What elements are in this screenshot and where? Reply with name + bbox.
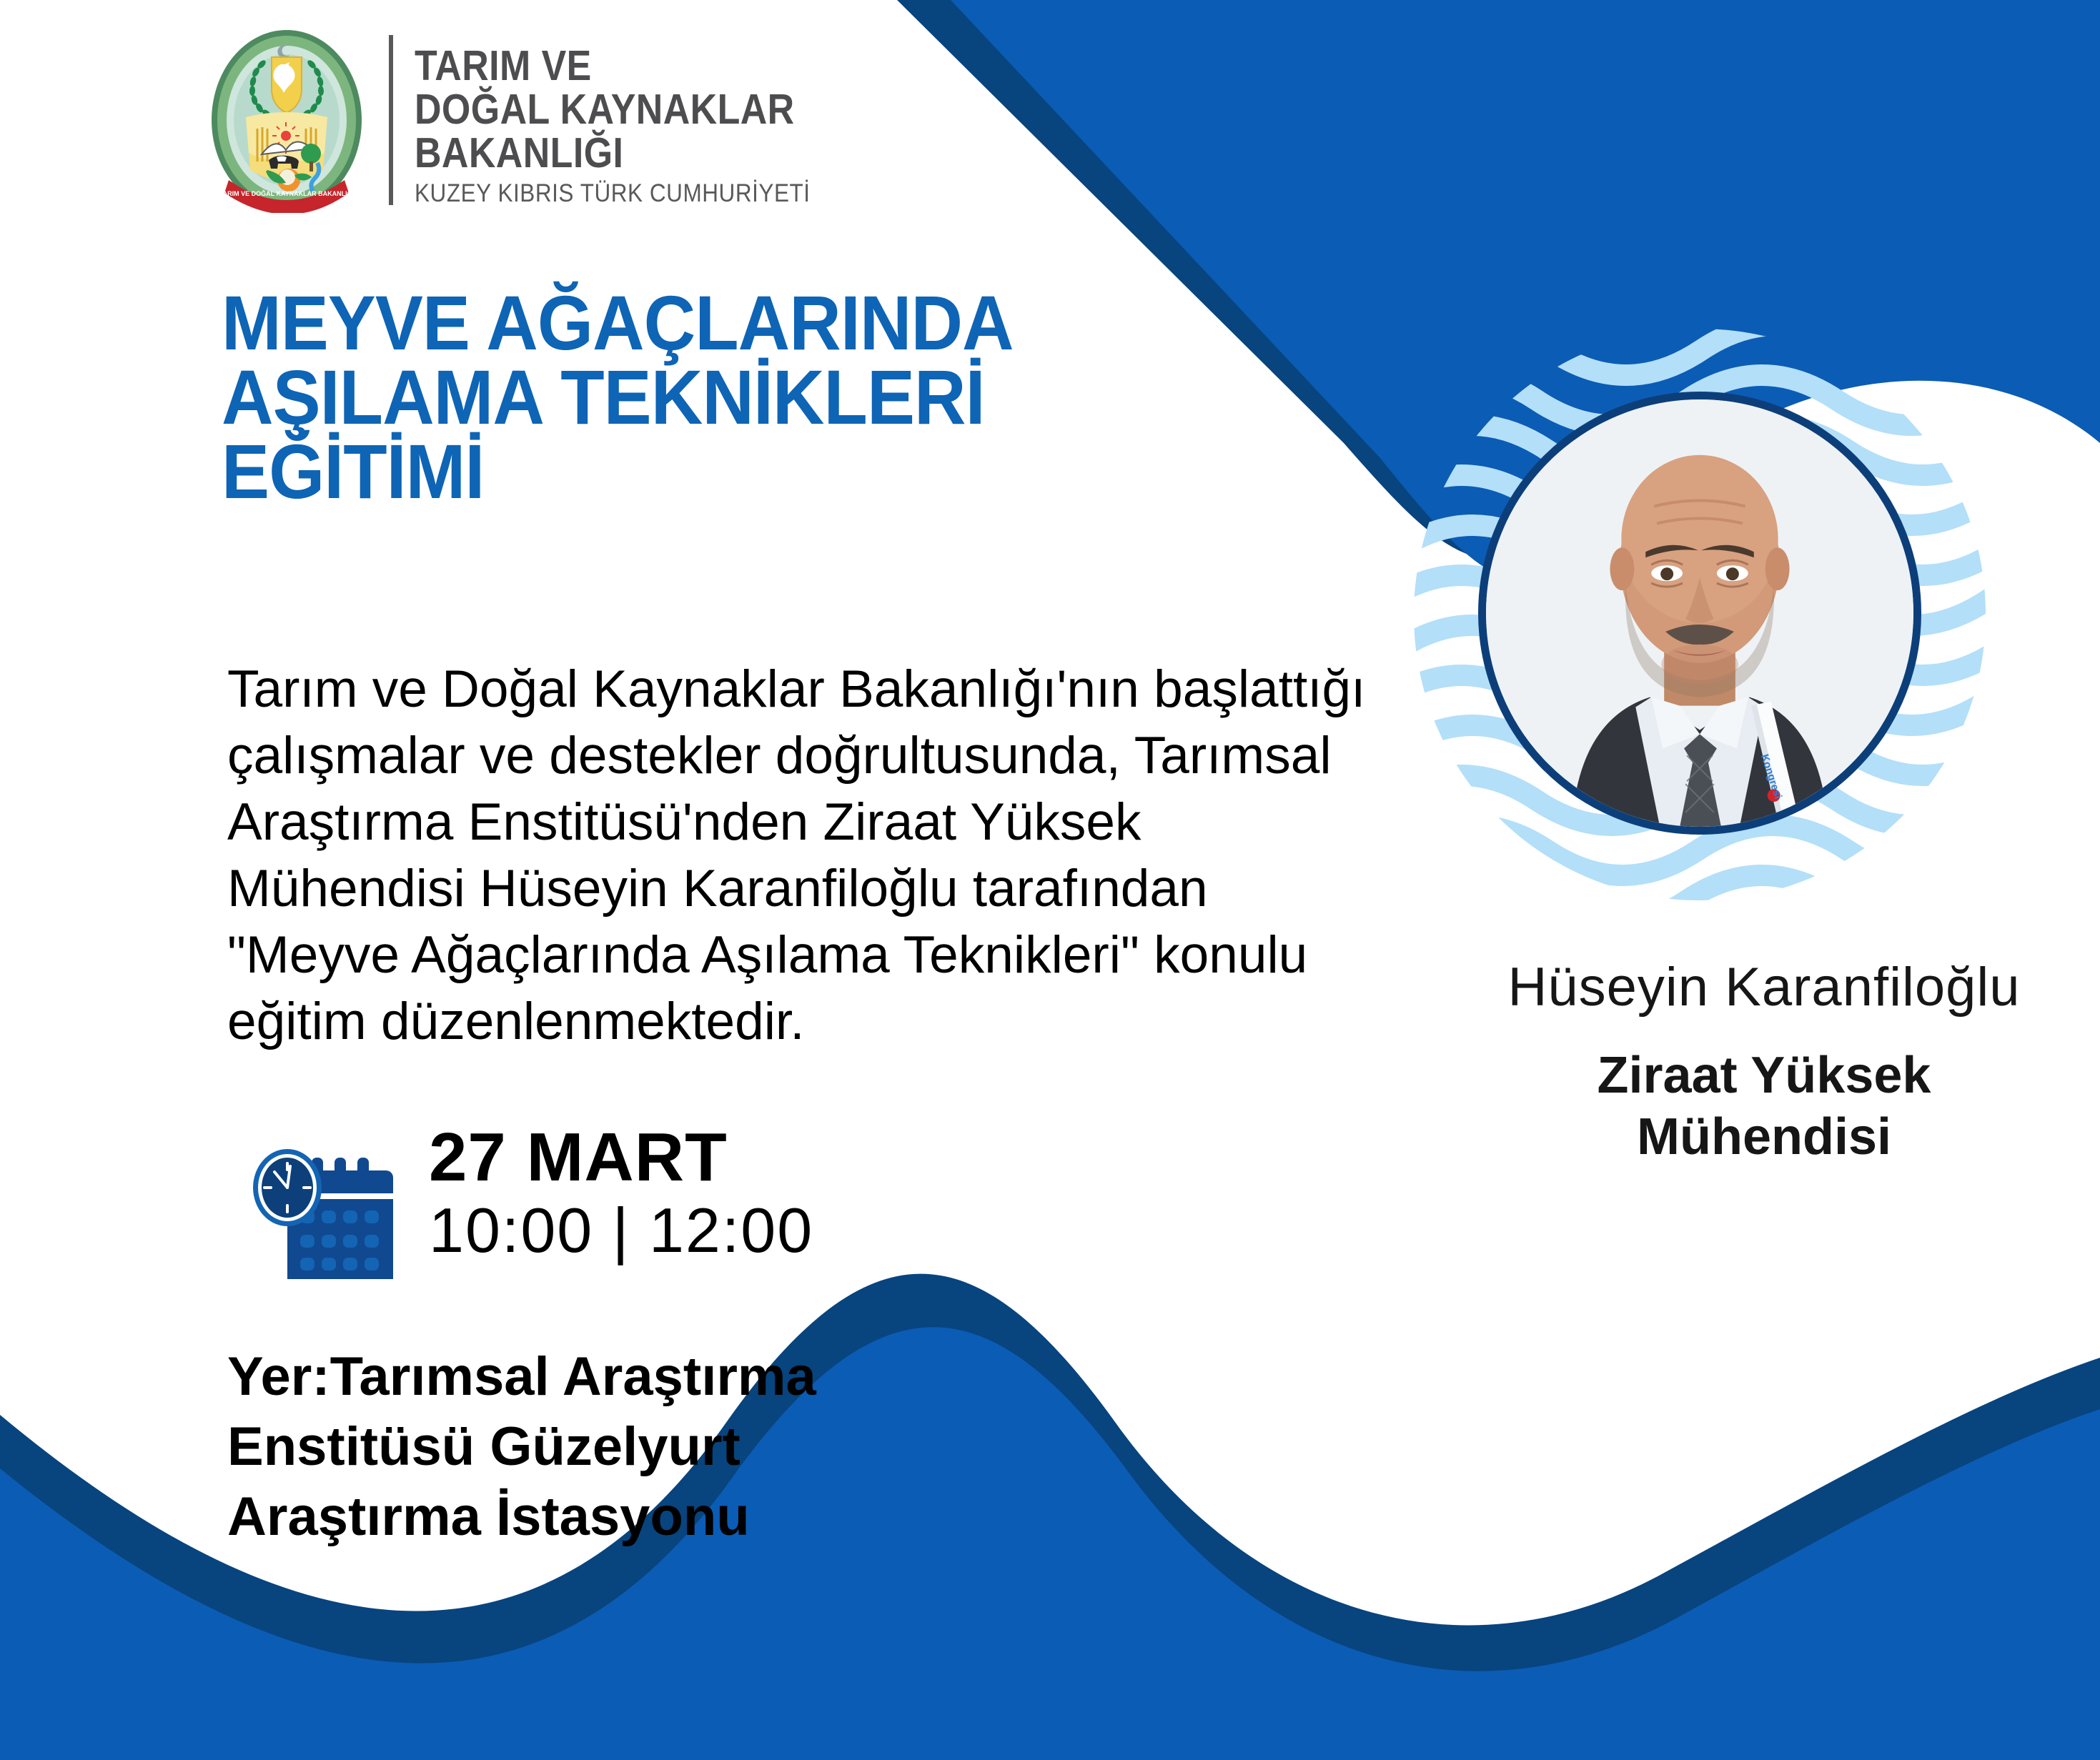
ministry-line-4: KUZEY KIBRIS TÜRK CUMHURİYETİ — [415, 175, 811, 209]
event-time: 10:00 | 12:00 — [429, 1193, 813, 1268]
headline-line-3: EĞİTİMİ — [222, 434, 1006, 509]
speaker-role-line-1: Ziraat Yüksek — [1442, 1045, 2086, 1106]
description-line: Tarım ve Doğal Kaynaklar Bakanlığı'nın b… — [227, 656, 1442, 722]
photo-ring: Ziraat Ban Kongresi — [1478, 392, 1921, 835]
speaker-role-line-2: Mühendisi — [1442, 1106, 2086, 1168]
ministry-crest-icon: TARIM VE DOĞAL KAYNAKLAR BAKANLIĞI — [209, 27, 365, 213]
venue-block: Yer:Tarımsal Araştırma Enstitüsü Güzelyu… — [227, 1342, 816, 1552]
description-line: Mühendisi Hüseyin Karanfiloğlu tarafında… — [227, 855, 1442, 922]
ministry-line-2: DOĞAL KAYNAKLAR — [415, 88, 801, 131]
ministry-line-3: BAKANLIĞI — [415, 131, 801, 175]
headline-line-1: MEYVE AĞAÇLARINDA — [222, 286, 1006, 360]
ministry-logo-block: TARIM VE DOĞAL KAYNAKLAR BAKANLIĞI TARIM… — [209, 27, 854, 213]
description-line: eğitim düzenlenmektedir. — [227, 988, 1442, 1055]
calendar-clock-icon — [243, 1136, 406, 1290]
crest-ribbon-caption: TARIM VE DOĞAL KAYNAKLAR BAKANLIĞI — [219, 189, 354, 197]
description-line: Araştırma Enstitüsü'nden Ziraat Yüksek — [227, 789, 1442, 855]
venue-line: Yer:Tarımsal Araştırma — [227, 1342, 816, 1412]
speaker-portrait-illustration: Ziraat Ban Kongresi — [1486, 399, 1913, 827]
event-date: 27 MART — [429, 1122, 813, 1193]
description-line: "Meyve Ağaçlarında Aşılama Teknikleri" k… — [227, 922, 1442, 988]
description-paragraph: Tarım ve Doğal Kaynaklar Bakanlığı'nın b… — [227, 656, 1442, 1055]
page-title: MEYVE AĞAÇLARINDA AŞILAMA TEKNİKLERİ EĞİ… — [222, 286, 1065, 509]
headline-line-2: AŞILAMA TEKNİKLERİ — [222, 360, 1006, 434]
description-line: çalışmalar ve destekler doğrultusunda, T… — [227, 722, 1442, 789]
speaker-name: Hüseyin Karanfiloğlu — [1442, 958, 2086, 1018]
venue-line: Enstitüsü Güzelyurt — [227, 1412, 816, 1482]
schedule-block: 27 MART 10:00 | 12:00 — [243, 1122, 813, 1290]
logo-divider — [389, 35, 393, 205]
speaker-photo: Ziraat Ban Kongresi — [1478, 392, 1921, 835]
schedule-text: 27 MART 10:00 | 12:00 — [429, 1122, 813, 1268]
ministry-line-1: TARIM VE — [415, 44, 801, 88]
speaker-role: Ziraat Yüksek Mühendisi — [1442, 1045, 2086, 1168]
ministry-wordmark: TARIM VE DOĞAL KAYNAKLAR BAKANLIĞI KUZEY… — [415, 31, 854, 209]
venue-line: Araştırma İstasyonu — [227, 1482, 816, 1552]
